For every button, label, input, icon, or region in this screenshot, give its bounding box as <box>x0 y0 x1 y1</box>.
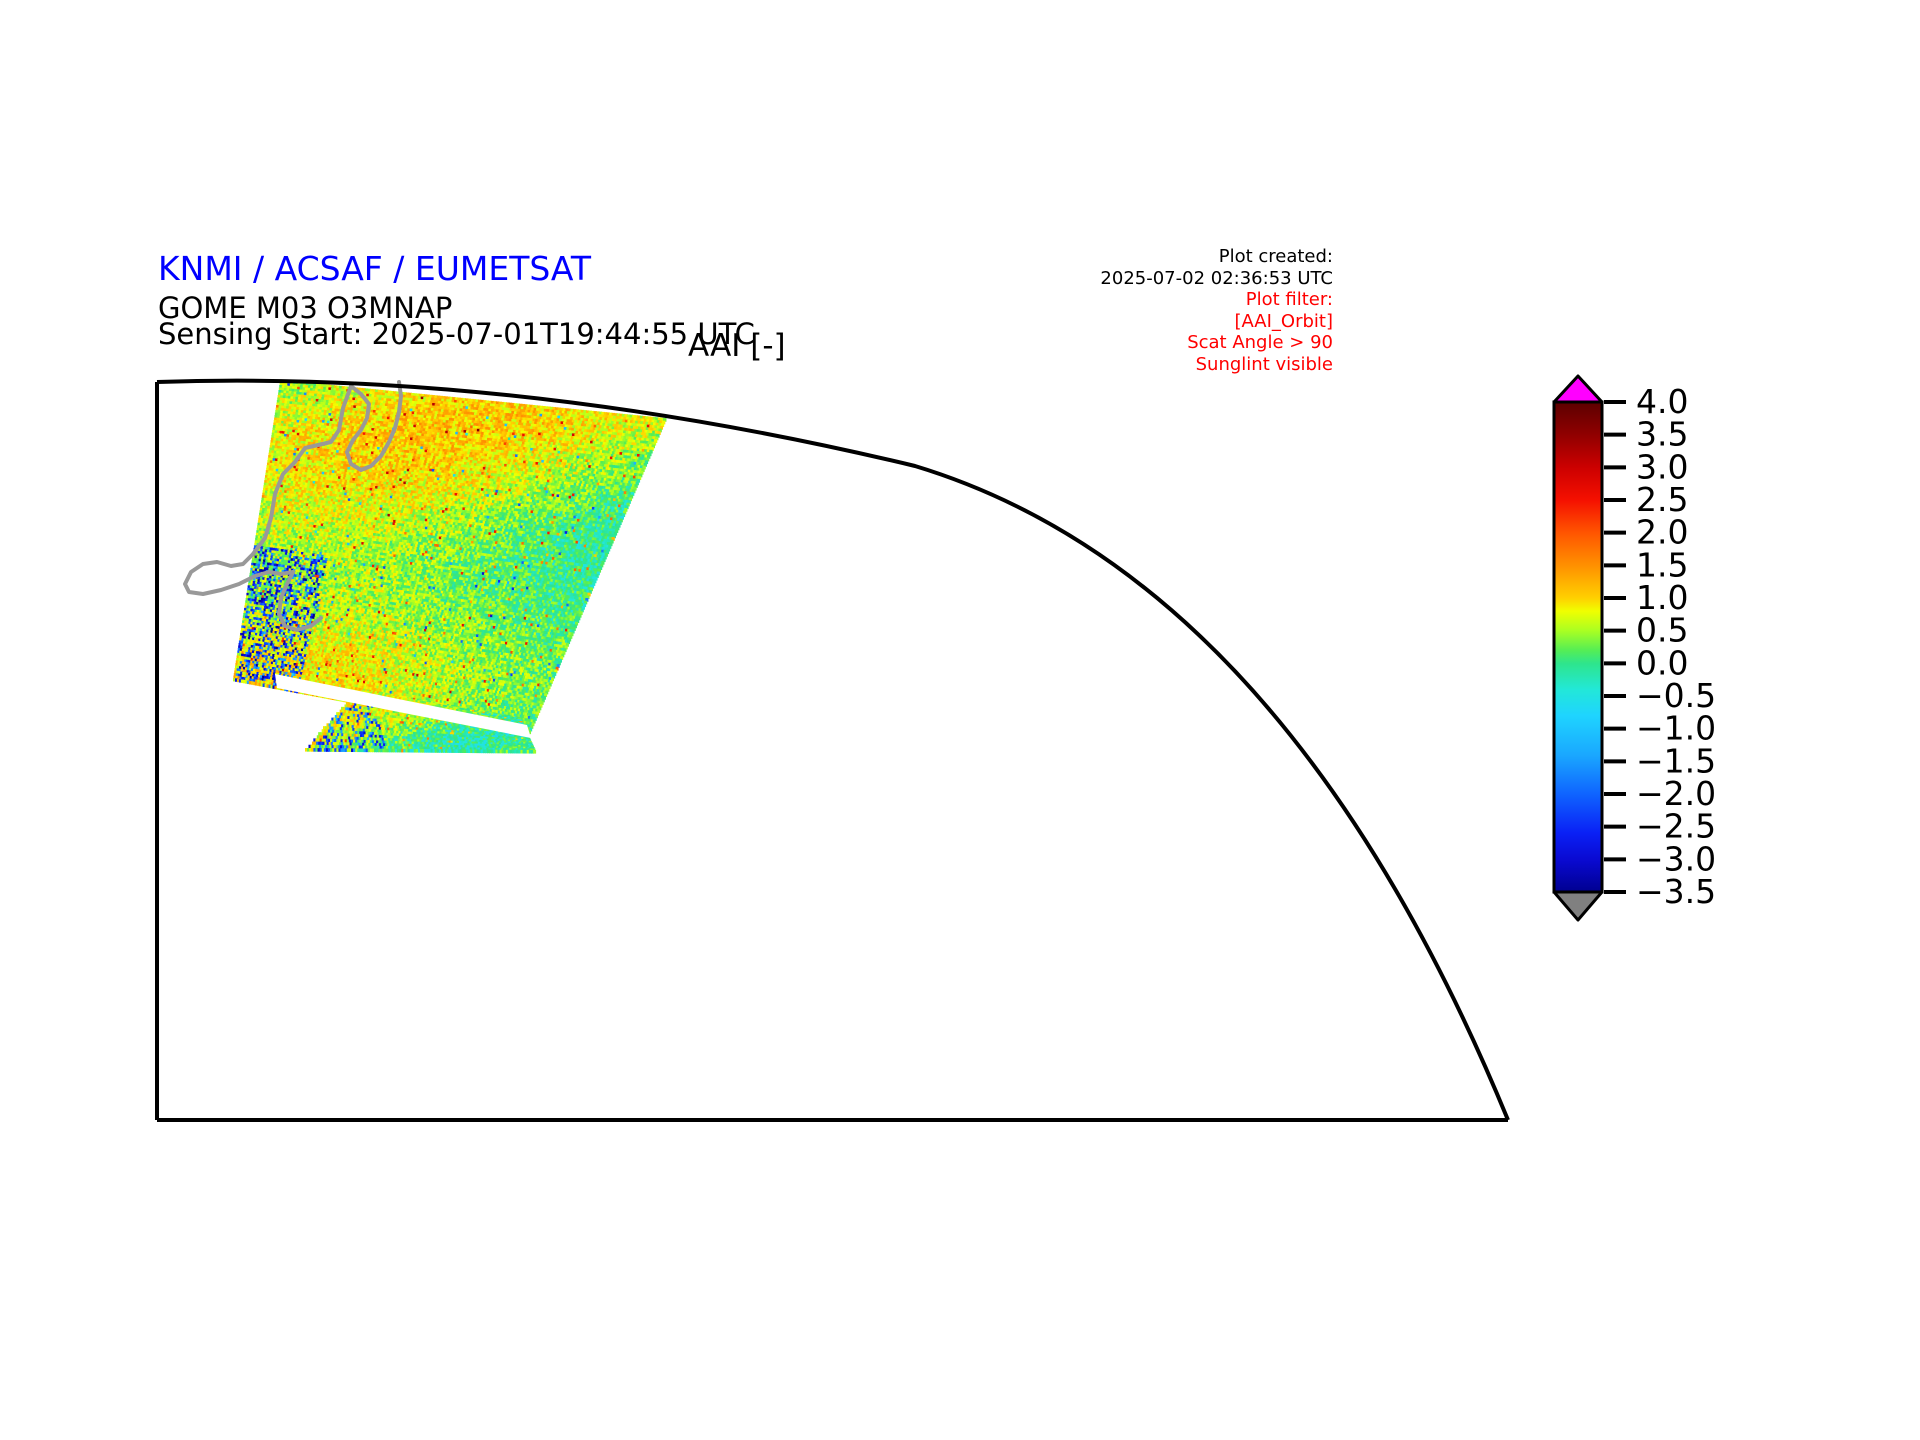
colorbar-svg: 4.03.53.02.52.01.51.00.50.0−0.5−1.0−1.5−… <box>1540 374 1880 926</box>
quantity-label: AAI [-] <box>688 328 786 364</box>
colorbar-over-arrow <box>1554 376 1602 402</box>
filter-sunglint: Sunglint visible <box>913 354 1333 376</box>
colorbar-ticks: 4.03.53.02.52.01.51.00.50.0−0.5−1.0−1.5−… <box>1604 382 1716 911</box>
colorbar-tick-label: −3.5 <box>1636 872 1716 911</box>
plot-filter-label: Plot filter: <box>913 289 1333 311</box>
aai-swath-raster <box>233 380 666 754</box>
colorbar: 4.03.53.02.52.01.51.00.50.0−0.5−1.0−1.5−… <box>1540 374 1880 926</box>
plot-filter-value: [AAI_Orbit] <box>913 311 1333 333</box>
colorbar-gradient <box>1554 402 1602 892</box>
annotation-block: Plot created: 2025-07-02 02:36:53 UTC Pl… <box>913 246 1333 375</box>
organization-title: KNMI / ACSAF / EUMETSAT <box>158 249 591 288</box>
plot-created-time: 2025-07-02 02:36:53 UTC <box>913 268 1333 290</box>
sensing-start-label: Sensing Start: 2025-07-01T19:44:55 UTC <box>158 317 755 351</box>
map-plot-area <box>155 378 1515 1126</box>
plot-created-label: Plot created: <box>913 246 1333 268</box>
filter-scat-angle: Scat Angle > 90 <box>913 332 1333 354</box>
map-panel <box>155 378 1515 1126</box>
colorbar-under-arrow <box>1554 892 1602 920</box>
